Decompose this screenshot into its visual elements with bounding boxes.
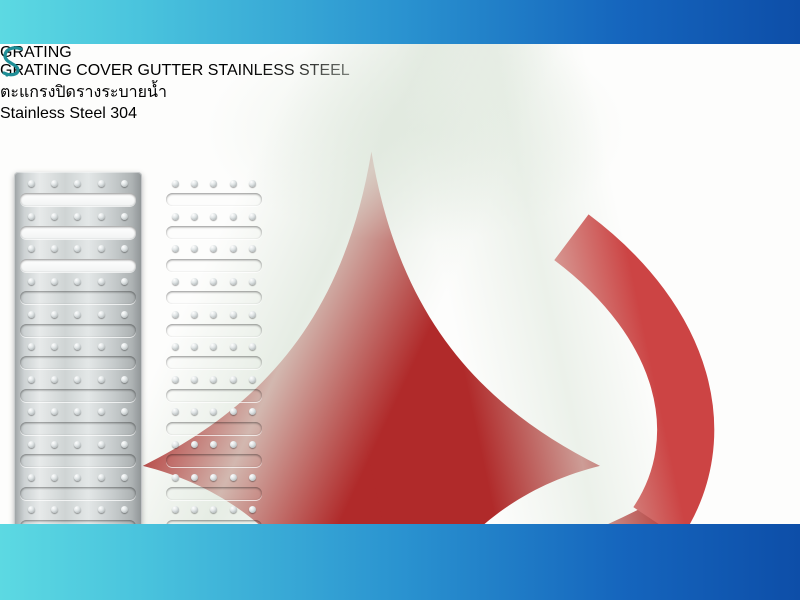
- product-photo-flat: [14, 172, 142, 524]
- rivet-dot: [98, 278, 105, 285]
- rivet-dot: [121, 408, 128, 415]
- rivet-dot: [191, 278, 198, 285]
- rivet-dot: [191, 376, 198, 383]
- rivet-dot: [28, 441, 35, 448]
- rivet-dot: [230, 376, 237, 383]
- rivet-dot: [210, 278, 217, 285]
- product-photo-framed: [160, 172, 268, 524]
- rivet-dot: [51, 441, 58, 448]
- rivet-dot: [121, 245, 128, 252]
- rivet-row: [166, 441, 262, 448]
- rivet-dot: [74, 441, 81, 448]
- grating-slot-green: [166, 487, 262, 500]
- rivet-dot: [191, 441, 198, 448]
- rivet-dot: [249, 441, 256, 448]
- rivet-dot: [74, 474, 81, 481]
- rivet-dot: [172, 408, 179, 415]
- rivet-row: [20, 441, 136, 448]
- grating-slot-plain: [20, 259, 136, 272]
- grating-slot-green: [166, 193, 262, 206]
- rivet-row: [20, 278, 136, 285]
- rivet-dot: [28, 278, 35, 285]
- grating-slot-green: [20, 454, 136, 467]
- grating-slot-green: [166, 291, 262, 304]
- rivet-dot: [98, 213, 105, 220]
- grating-slot-plain: [20, 193, 136, 206]
- rivet-dot: [121, 213, 128, 220]
- rivet-dot: [28, 343, 35, 350]
- rivet-dot: [210, 311, 217, 318]
- rivet-dot: [121, 180, 128, 187]
- rivet-dot: [210, 245, 217, 252]
- rivet-dot: [191, 245, 198, 252]
- rivet-dot: [210, 441, 217, 448]
- rivet-dot: [98, 408, 105, 415]
- rivet-row: [166, 311, 262, 318]
- rivet-dot: [230, 245, 237, 252]
- rivet-row: [20, 311, 136, 318]
- rivet-dot: [74, 245, 81, 252]
- rivet-dot: [98, 180, 105, 187]
- grating-slot-green: [166, 389, 262, 402]
- rivet-dot: [121, 278, 128, 285]
- rivet-dot: [210, 213, 217, 220]
- rivet-dot: [28, 180, 35, 187]
- grating-slot-green: [20, 389, 136, 402]
- rivet-dot: [121, 376, 128, 383]
- rivet-dot: [121, 311, 128, 318]
- rivet-dot: [172, 311, 179, 318]
- rivet-dot: [172, 213, 179, 220]
- rivet-row: [166, 278, 262, 285]
- rivet-dot: [51, 180, 58, 187]
- rivet-dot: [51, 311, 58, 318]
- grating-slot-green: [20, 324, 136, 337]
- rivet-dot: [172, 441, 179, 448]
- rivet-dot: [28, 311, 35, 318]
- rivet-dot: [51, 408, 58, 415]
- rivet-dot: [210, 506, 217, 513]
- rivet-dot: [230, 506, 237, 513]
- rivet-dot: [51, 343, 58, 350]
- grating-slot-green: [166, 520, 262, 524]
- rivet-dot: [230, 278, 237, 285]
- rivet-dot: [191, 343, 198, 350]
- header-subtitle: Stainless Steel 304: [0, 105, 800, 123]
- rivet-dot: [74, 506, 81, 513]
- grating-slot-green: [166, 324, 262, 337]
- rivet-dot: [230, 474, 237, 481]
- rivet-dot: [230, 441, 237, 448]
- rivet-row: [20, 376, 136, 383]
- rivet-dot: [249, 343, 256, 350]
- rivet-dot: [249, 311, 256, 318]
- rivet-dot: [172, 245, 179, 252]
- rivet-dot: [249, 474, 256, 481]
- rivet-dot: [98, 441, 105, 448]
- rivet-row: [20, 180, 136, 187]
- header-title-th: ตะแกรงปิดรางระบายน้ำ: [0, 80, 800, 105]
- rivet-dot: [121, 343, 128, 350]
- rivet-row: [166, 376, 262, 383]
- rivet-row: [20, 408, 136, 415]
- rivet-row: [166, 408, 262, 415]
- rivet-row: [20, 245, 136, 252]
- rivet-dot: [98, 343, 105, 350]
- grating-slot-green: [166, 259, 262, 272]
- rivet-dot: [28, 213, 35, 220]
- rivet-dot: [51, 506, 58, 513]
- rivet-dot: [210, 376, 217, 383]
- rivet-dot: [230, 213, 237, 220]
- rivet-dot: [98, 474, 105, 481]
- rivet-dot: [98, 311, 105, 318]
- poster-root: GRATING GRATING COVER GUTTER STAINLESS S…: [0, 0, 800, 600]
- content-card: GRATING GRATING COVER GUTTER STAINLESS S…: [0, 44, 800, 524]
- rivet-dot: [51, 278, 58, 285]
- rivet-dot: [172, 506, 179, 513]
- rivet-dot: [51, 213, 58, 220]
- rivet-dot: [191, 474, 198, 481]
- rivet-dot: [230, 408, 237, 415]
- rivet-dot: [74, 213, 81, 220]
- rivet-row: [166, 245, 262, 252]
- rivet-row: [166, 213, 262, 220]
- rivet-dot: [51, 376, 58, 383]
- rivet-dot: [28, 376, 35, 383]
- rivet-dot: [172, 474, 179, 481]
- rivet-dot: [28, 474, 35, 481]
- rivet-dot: [249, 180, 256, 187]
- grating-slot-green: [166, 226, 262, 239]
- rivet-dot: [28, 408, 35, 415]
- grating-slot-green: [20, 356, 136, 369]
- rivet-dot: [121, 474, 128, 481]
- rivet-dot: [191, 180, 198, 187]
- rivet-dot: [249, 245, 256, 252]
- rivet-dot: [249, 213, 256, 220]
- rivet-dot: [172, 376, 179, 383]
- rivet-dot: [74, 311, 81, 318]
- rivet-dot: [98, 376, 105, 383]
- rivet-dot: [74, 408, 81, 415]
- rivet-row: [20, 213, 136, 220]
- rivet-dot: [191, 213, 198, 220]
- rivet-row: [166, 180, 262, 187]
- rivet-dot: [74, 180, 81, 187]
- rivet-dot: [28, 245, 35, 252]
- grating-slot-green: [20, 520, 136, 524]
- swoosh-s-icon: [0, 44, 26, 78]
- rivet-dot: [121, 506, 128, 513]
- rivet-dot: [249, 376, 256, 383]
- rivet-dot: [210, 474, 217, 481]
- rivet-dot: [191, 311, 198, 318]
- grating-slot-green: [20, 422, 136, 435]
- rivet-dot: [74, 343, 81, 350]
- rivet-dot: [230, 343, 237, 350]
- rivet-dot: [121, 441, 128, 448]
- grating-slot-green: [20, 291, 136, 304]
- grating-slot-green: [166, 356, 262, 369]
- grating-slot-green: [166, 422, 262, 435]
- rivet-row: [20, 343, 136, 350]
- rivet-dot: [74, 376, 81, 383]
- rivet-dot: [51, 474, 58, 481]
- rivet-dot: [172, 278, 179, 285]
- rivet-dot: [230, 311, 237, 318]
- rivet-dot: [98, 506, 105, 513]
- grating-slots: [166, 180, 262, 524]
- grating-slot-plain: [20, 226, 136, 239]
- rivet-row: [166, 343, 262, 350]
- grating-slot-green: [20, 487, 136, 500]
- grating-slot-green: [166, 454, 262, 467]
- rivet-dot: [249, 408, 256, 415]
- rivet-dot: [28, 506, 35, 513]
- rivet-dot: [74, 278, 81, 285]
- rivet-dot: [191, 408, 198, 415]
- rivet-dot: [210, 180, 217, 187]
- rivet-dot: [249, 278, 256, 285]
- rivet-row: [20, 474, 136, 481]
- rivet-dot: [230, 180, 237, 187]
- rivet-dot: [172, 343, 179, 350]
- rivet-row: [20, 506, 136, 513]
- rivet-dot: [249, 506, 256, 513]
- grating-plate: [14, 172, 142, 524]
- rivet-dot: [172, 180, 179, 187]
- header-title-en: GRATING COVER GUTTER STAINLESS STEEL: [0, 62, 800, 80]
- rivet-dot: [210, 343, 217, 350]
- brand-wordmark: GRATING: [0, 44, 800, 62]
- rivet-row: [166, 506, 262, 513]
- rivet-row: [166, 474, 262, 481]
- rivet-dot: [210, 408, 217, 415]
- rivet-dot: [51, 245, 58, 252]
- grating-slots: [20, 180, 136, 524]
- header-text-block: GRATING COVER GUTTER STAINLESS STEEL ตะแ…: [0, 62, 800, 123]
- rivet-dot: [191, 506, 198, 513]
- rivet-dot: [98, 245, 105, 252]
